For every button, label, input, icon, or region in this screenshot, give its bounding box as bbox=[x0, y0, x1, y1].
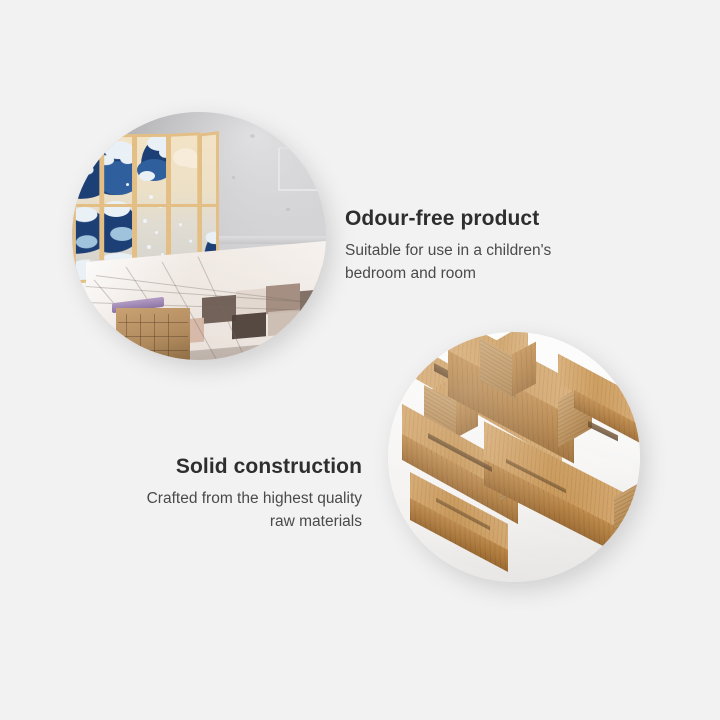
feature-text-solid-construction: Solid construction Crafted from the high… bbox=[110, 454, 362, 533]
bedroom-scene bbox=[72, 112, 326, 360]
wood-scene bbox=[388, 332, 640, 582]
bedroom-photo bbox=[72, 112, 326, 360]
solid-construction-subtext-line2: raw materials bbox=[110, 511, 362, 533]
odour-free-subtext-line1: Suitable for use in a children's bbox=[345, 240, 595, 262]
solid-construction-headline: Solid construction bbox=[110, 454, 362, 479]
product-feature-banner: Odour-free product Suitable for use in a… bbox=[0, 0, 720, 720]
nightstand bbox=[116, 308, 190, 360]
feature-text-odour-free: Odour-free product Suitable for use in a… bbox=[345, 206, 595, 285]
wood-photo bbox=[388, 332, 640, 582]
wall-frame-decor bbox=[278, 147, 326, 191]
solid-construction-subtext-line1: Crafted from the highest quality bbox=[110, 488, 362, 510]
odour-free-subtext-line2: bedroom and room bbox=[345, 263, 595, 285]
odour-free-headline: Odour-free product bbox=[345, 206, 595, 231]
